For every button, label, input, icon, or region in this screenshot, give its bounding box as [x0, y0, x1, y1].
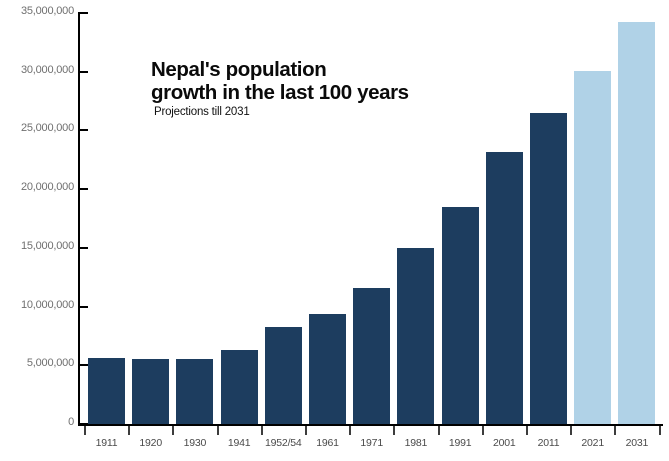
y-axis-line — [78, 12, 80, 425]
title-block: Nepal's population growth in the last 10… — [151, 58, 481, 118]
bar-2001[interactable] — [486, 152, 523, 424]
x-axis-tick — [614, 426, 616, 435]
x-axis-tick — [438, 426, 440, 435]
bar-1961[interactable] — [309, 314, 346, 425]
x-axis-tick-label-2021: 2021 — [568, 437, 617, 449]
x-axis-tick-label-1952-54: 1952/54 — [259, 437, 308, 449]
x-axis-tick — [526, 426, 528, 435]
x-axis-tick — [84, 426, 86, 435]
x-axis-tick — [570, 426, 572, 435]
bar-chart-plot: 05,000,00010,000,00015,000,00020,000,000… — [0, 0, 669, 461]
y-axis-tick-label: 0 — [2, 416, 74, 428]
bar-1971[interactable] — [353, 288, 390, 424]
bar-1991[interactable] — [442, 207, 479, 424]
x-axis-tick — [482, 426, 484, 435]
bar-2011[interactable] — [530, 113, 567, 424]
y-axis-tick — [78, 188, 88, 190]
x-axis-tick-label-1930: 1930 — [170, 437, 219, 449]
x-axis-tick — [217, 426, 219, 435]
x-axis-tick-label-1961: 1961 — [303, 437, 352, 449]
x-axis-line — [78, 424, 663, 426]
y-axis-tick-label: 5,000,000 — [2, 357, 74, 369]
y-axis-tick-label: 30,000,000 — [2, 64, 74, 76]
bar-2021[interactable] — [574, 71, 611, 424]
x-axis-tick-label-2031: 2031 — [612, 437, 661, 449]
y-axis-tick — [78, 423, 88, 425]
x-axis-tick-label-1991: 1991 — [436, 437, 485, 449]
y-axis-tick-label: 20,000,000 — [2, 181, 74, 193]
y-axis-tick — [78, 12, 88, 14]
x-axis-tick-label-1911: 1911 — [82, 437, 131, 449]
chart-title: Nepal's population growth in the last 10… — [151, 58, 481, 104]
x-axis-tick-label-2001: 2001 — [480, 437, 529, 449]
x-axis-tick — [172, 426, 174, 435]
y-axis-tick — [78, 129, 88, 131]
x-axis-tick — [393, 426, 395, 435]
y-axis-tick-label: 10,000,000 — [2, 299, 74, 311]
bar-1911[interactable] — [88, 358, 125, 424]
bar-1981[interactable] — [397, 248, 434, 424]
x-axis-tick-label-2011: 2011 — [524, 437, 573, 449]
y-axis-tick — [78, 71, 88, 73]
y-axis-tick — [78, 247, 88, 249]
bar-1952-54[interactable] — [265, 327, 302, 424]
x-axis-tick-label-1920: 1920 — [126, 437, 175, 449]
x-axis-tick-label-1981: 1981 — [391, 437, 440, 449]
y-axis-tick — [78, 364, 88, 366]
x-axis-tick — [305, 426, 307, 435]
y-axis-tick-label: 25,000,000 — [2, 122, 74, 134]
y-axis-tick — [78, 306, 88, 308]
bar-1920[interactable] — [132, 359, 169, 424]
bar-1941[interactable] — [221, 350, 258, 424]
bar-2031[interactable] — [618, 22, 655, 424]
x-axis-tick — [128, 426, 130, 435]
x-axis-tick — [349, 426, 351, 435]
x-axis-tick — [261, 426, 263, 435]
chart-subtitle: Projections till 2031 — [154, 106, 481, 118]
x-axis-tick-label-1971: 1971 — [347, 437, 396, 449]
x-axis-tick-end — [659, 426, 661, 435]
y-axis-tick-label: 15,000,000 — [2, 240, 74, 252]
y-axis-tick-label: 35,000,000 — [2, 5, 74, 17]
chart-page: 05,000,00010,000,00015,000,00020,000,000… — [0, 0, 669, 461]
bar-1930[interactable] — [176, 359, 213, 424]
x-axis-tick-label-1941: 1941 — [215, 437, 264, 449]
